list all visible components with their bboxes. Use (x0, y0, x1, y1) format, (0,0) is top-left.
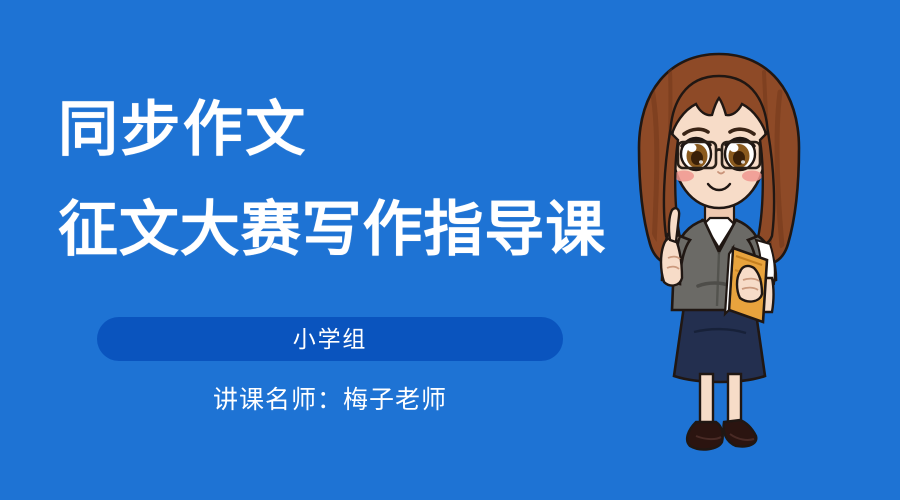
group-badge[interactable]: 小学组 (97, 317, 563, 361)
group-badge-label: 小学组 (293, 328, 368, 351)
shoe-right (724, 420, 757, 447)
presenter-line: 讲课名师：梅子老师 (0, 388, 660, 413)
headline-block: 同步作文 征文大赛写作指导课 小学组 讲课名师：梅子老师 (0, 0, 640, 500)
cartoon-teacher-illustration (612, 48, 827, 468)
blush-left (674, 171, 694, 182)
headline-line-2: 征文大赛写作指导课 (58, 200, 606, 260)
headline-line-1: 同步作文 (58, 100, 308, 160)
face (670, 76, 768, 208)
shoe-left (687, 422, 723, 449)
blush-right (742, 171, 762, 182)
cartoon-teacher-svg (612, 48, 827, 468)
poster-canvas: 同步作文 征文大赛写作指导课 小学组 讲课名师：梅子老师 (0, 0, 900, 500)
body (661, 208, 776, 449)
